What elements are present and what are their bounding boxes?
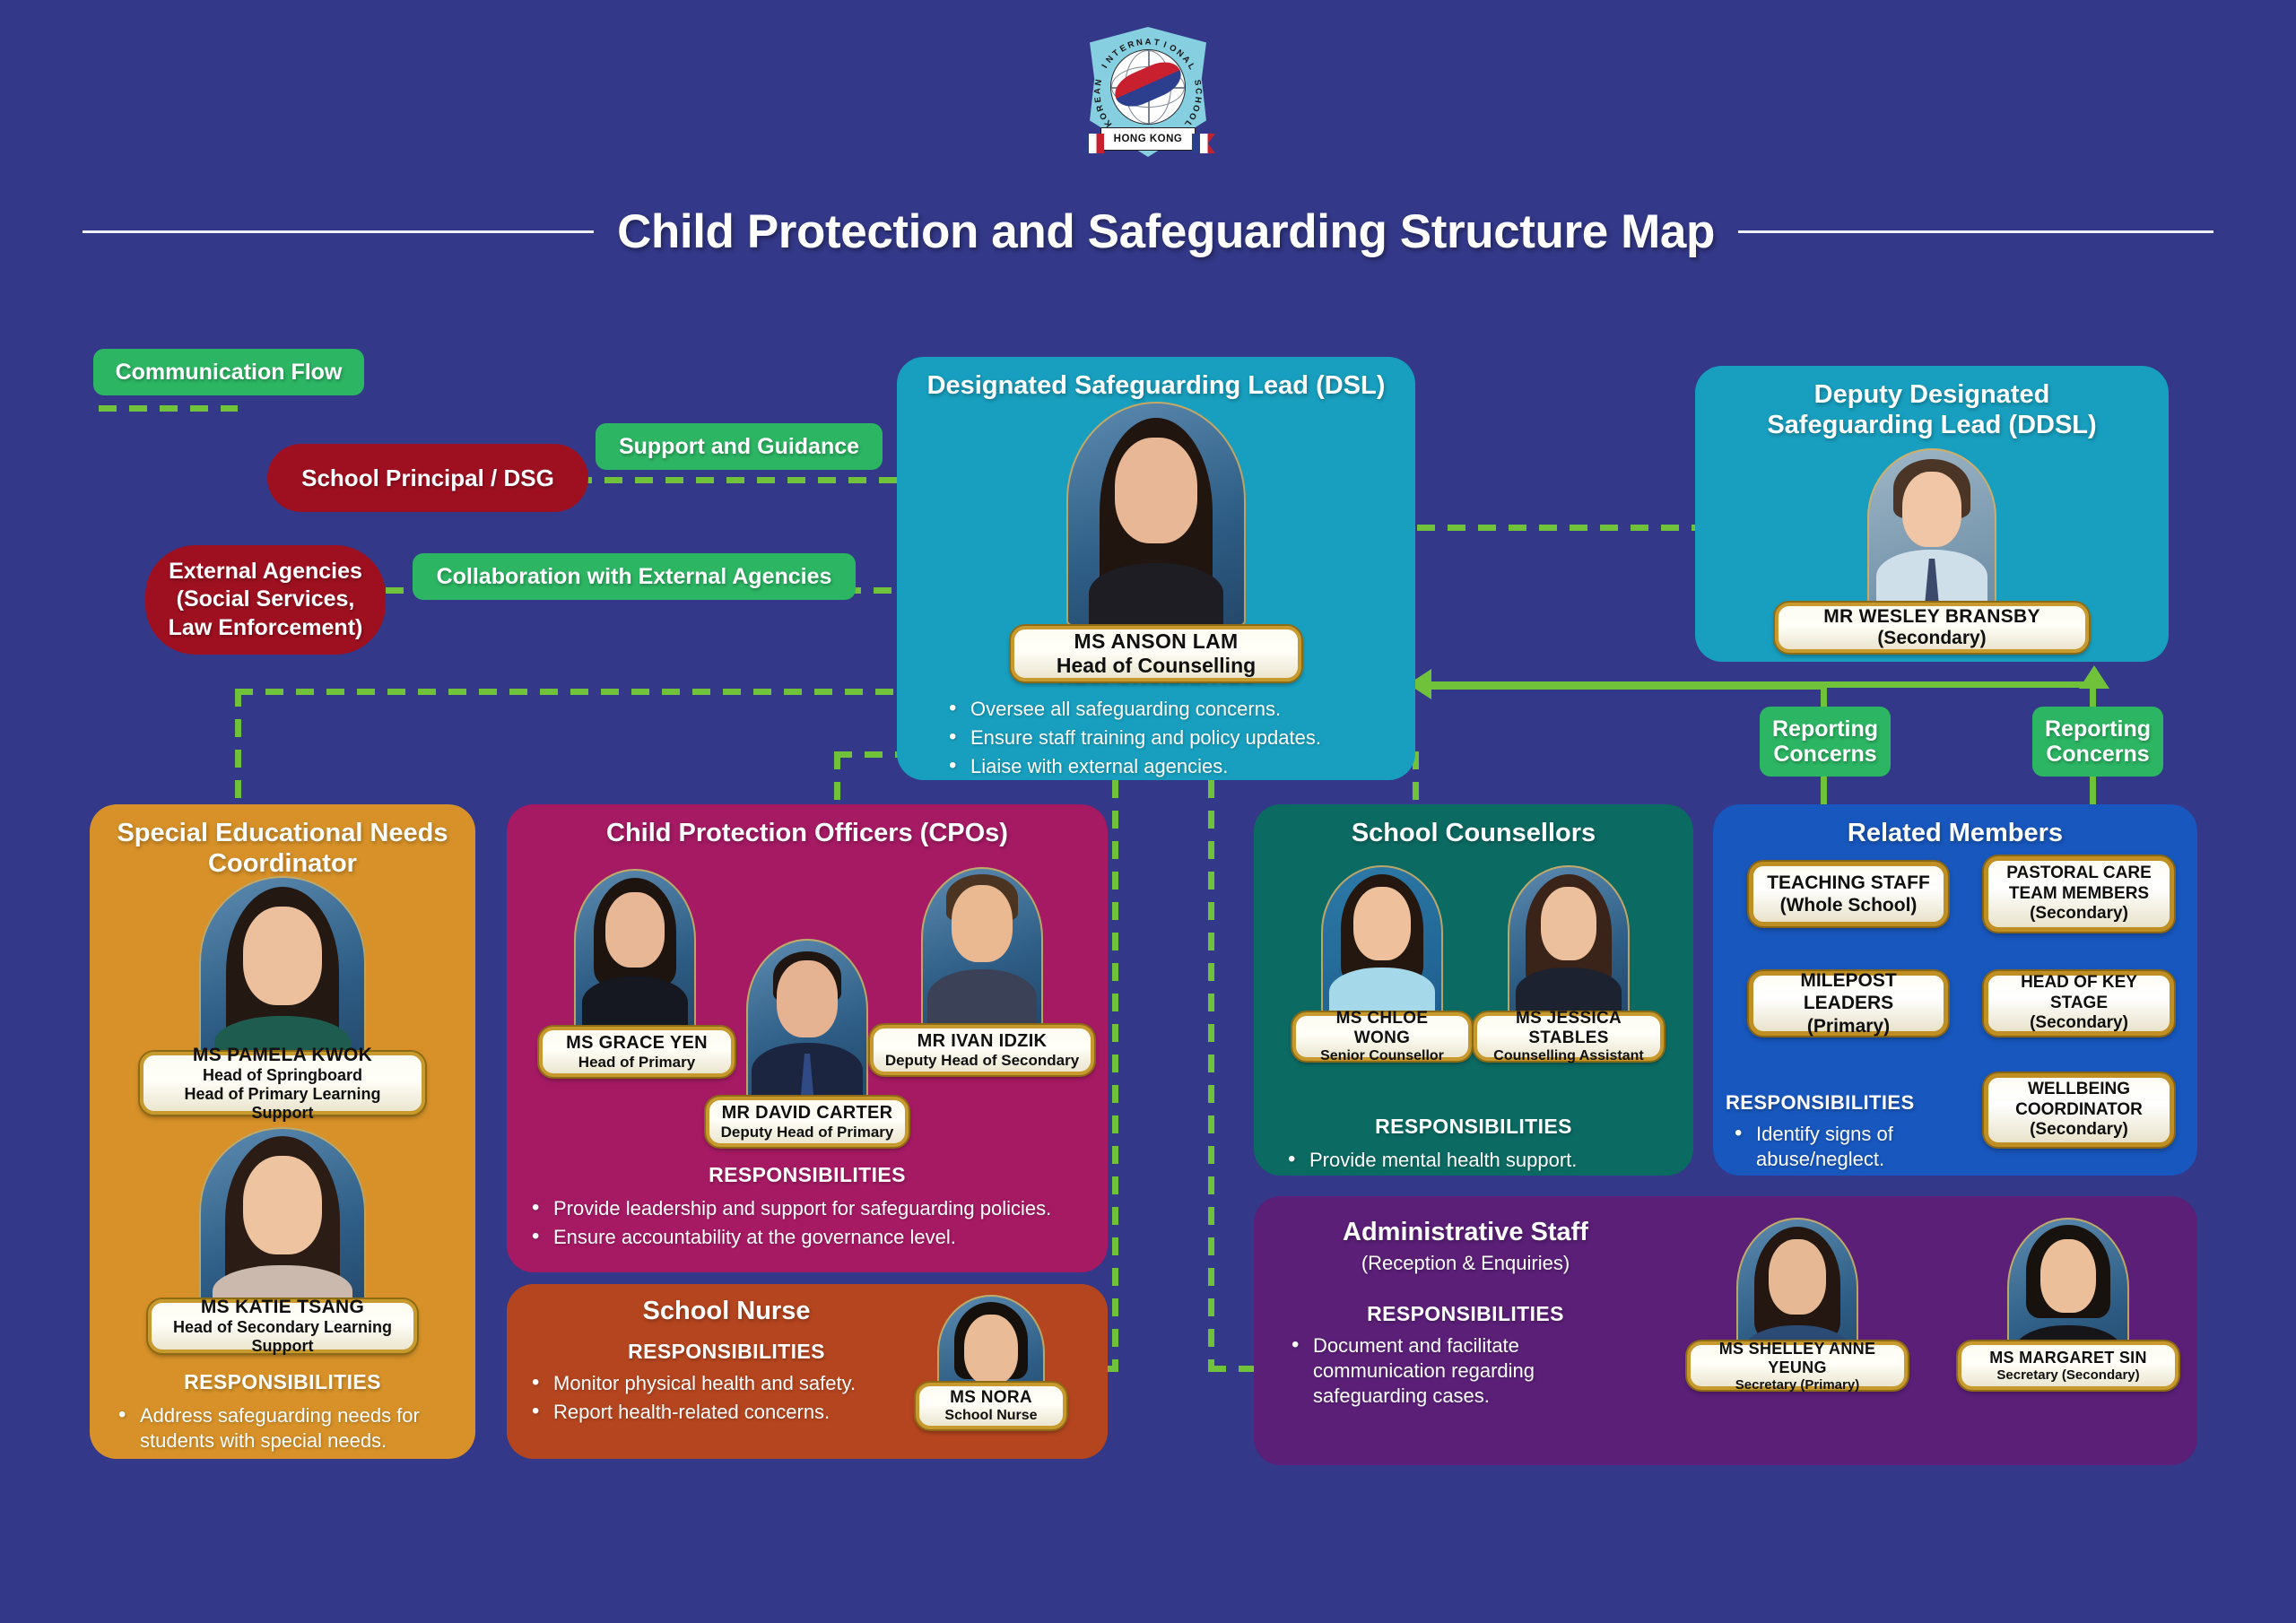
person-anson-lam (1066, 402, 1246, 626)
card-cpo-responsibilities: Provide leadership and support for safeg… (523, 1196, 1108, 1250)
label-collaboration-external-agencies: Collaboration with External Agencies (413, 553, 856, 600)
nameplate-ms-nora-name: MS NORA (950, 1388, 1032, 1408)
nameplate-margaret-sin-role: Secretary (Secondary) (1996, 1367, 2139, 1383)
card-related-resp-item: Identify signs of abuse/neglect. (1726, 1122, 1968, 1172)
nameplate-wesley-bransby-role: (Secondary) (1877, 628, 1986, 649)
node-school-principal[interactable]: School Principal / DSG (267, 444, 588, 512)
nameplate-shelley-anne-yeung-name: MS SHELLEY ANNE YEUNG (1701, 1340, 1893, 1377)
card-ddsl-title: Deputy DesignatedSafeguarding Lead (DDSL… (1695, 366, 2169, 440)
person-jessica-stables (1508, 865, 1630, 1018)
card-school-nurse[interactable]: School Nurse RESPONSIBILITIES Monitor ph… (507, 1284, 1108, 1459)
person-wesley-bransby (1867, 448, 1996, 605)
nameplate-ivan-idzik-role: Deputy Head of Secondary (885, 1052, 1079, 1070)
nameplate-grace-yen-role: Head of Primary (578, 1054, 695, 1072)
card-dsl-title: Designated Safeguarding Lead (DSL) (897, 357, 1415, 402)
title-row: Child Protection and Safeguarding Struct… (0, 190, 2296, 273)
nameplate-margaret-sin: MS MARGARET SIN Secretary (Secondary) (1958, 1341, 2179, 1390)
person-katie-tsang (199, 1127, 366, 1319)
nameplate-pamela-kwok: MS PAMELA KWOK Head of SpringboardHead o… (140, 1052, 425, 1115)
node-school-principal-label: School Principal / DSG (301, 464, 554, 493)
card-dsl-resp-item: Ensure staff training and policy updates… (940, 725, 1415, 751)
connector-dsl-to-nurse (1112, 780, 1118, 1372)
school-logo: KOREAN INTERNATIONAL SCHOOL HONG KONG (1081, 27, 1215, 175)
card-related-members[interactable]: Related Members TEACHING STAFF(Whole Sch… (1713, 804, 2197, 1176)
nameplate-margaret-sin-name: MS MARGARET SIN (1989, 1349, 2147, 1367)
nameplate-shelley-anne-yeung: MS SHELLEY ANNE YEUNG Secretary (Primary… (1687, 1341, 1908, 1390)
card-dsl-resp-item: Liaise with external agencies. (940, 754, 1415, 779)
card-senco-title: Special Educational NeedsCoordinator (90, 804, 475, 879)
card-cpo-title: Child Protection Officers (CPOs) (507, 804, 1108, 849)
person-pamela-kwok (199, 876, 366, 1072)
card-ddsl[interactable]: Deputy DesignatedSafeguarding Lead (DDSL… (1695, 366, 2169, 662)
person-david-carter (746, 939, 868, 1100)
structure-map-canvas: KOREAN INTERNATIONAL SCHOOL HONG KONG Ch… (0, 0, 2296, 1623)
title-rule-left (83, 230, 594, 233)
card-senco-resp-item: Address safeguarding needs for students … (109, 1403, 452, 1454)
card-counsellors-resp-item: Provide mental health support. (1279, 1148, 1693, 1173)
card-cpo-resp-heading: RESPONSIBILITIES (507, 1163, 1108, 1187)
nameplate-chloe-wong-name: MS CHLOE WONG (1307, 1009, 1457, 1048)
card-dsl[interactable]: Designated Safeguarding Lead (DSL) MS AN… (897, 357, 1415, 780)
legend-dash-sample (99, 405, 238, 412)
card-admin-responsibilities: Document and facilitate communication re… (1283, 1333, 1552, 1409)
connector-dsl-to-cpo-h (834, 751, 906, 758)
tag-teaching-staff-label: TEACHING STAFF(Whole School) (1767, 872, 1930, 916)
connector-dsl-to-ddsl (1417, 525, 1695, 531)
node-external-agencies-label: External Agencies(Social Services,Law En… (169, 558, 363, 642)
nameplate-anson-lam: MS ANSON LAM Head of Counselling (1011, 626, 1301, 681)
card-cpo[interactable]: Child Protection Officers (CPOs) MS GRAC… (507, 804, 1108, 1272)
tag-head-of-key-stage-label: HEAD OF KEY STAGE(Secondary) (1996, 973, 2162, 1034)
card-admin-resp-item: Document and facilitate communication re… (1283, 1333, 1552, 1409)
nameplate-shelley-anne-yeung-role: Secretary (Primary) (1735, 1377, 1859, 1393)
title-rule-right (1738, 230, 2213, 233)
label-support-and-guidance: Support and Guidance (596, 423, 883, 470)
ribbon-right-icon (1192, 134, 1215, 153)
label-reporting-concerns-right: ReportingConcerns (2032, 707, 2163, 777)
connector-principal-to-dsl (574, 477, 897, 483)
nameplate-anson-lam-role: Head of Counselling (1057, 654, 1256, 678)
person-chloe-wong (1321, 865, 1443, 1018)
nameplate-david-carter-role: Deputy Head of Primary (721, 1124, 894, 1141)
nameplate-ivan-idzik: MR IVAN IDZIK Deputy Head of Secondary (870, 1025, 1094, 1075)
nameplate-katie-tsang-role: Head of Secondary Learning Support (162, 1318, 403, 1356)
card-senco[interactable]: Special Educational NeedsCoordinator MS … (90, 804, 475, 1459)
tag-wellbeing-coordinator[interactable]: WELLBEINGCOORDINATOR(Secondary) (1984, 1073, 2174, 1147)
nameplate-ms-nora: MS NORA School Nurse (916, 1383, 1066, 1429)
card-cpo-resp-item: Ensure accountability at the governance … (523, 1225, 1108, 1250)
nameplate-grace-yen-name: MS GRACE YEN (566, 1033, 708, 1054)
person-ivan-idzik (921, 867, 1043, 1028)
nameplate-ivan-idzik-name: MR IVAN IDZIK (918, 1031, 1048, 1052)
card-related-title: Related Members (1713, 804, 2197, 849)
card-senco-resp-heading: RESPONSIBILITIES (90, 1370, 475, 1394)
connector-counsellors-elbow (1431, 683, 1827, 690)
card-counsellors-title: School Counsellors (1254, 804, 1693, 849)
card-counsellors-responsibilities: Provide mental health support. Identify … (1279, 1148, 1693, 1176)
card-dsl-resp-item: Oversee all safeguarding concerns. (940, 697, 1415, 722)
arrow-to-ddsl-icon (2079, 665, 2109, 689)
nameplate-katie-tsang-name: MS KATIE TSANG (201, 1297, 364, 1318)
nameplate-chloe-wong-role: Senior Counsellor (1320, 1048, 1444, 1064)
connector-dsl-to-admin (1208, 780, 1214, 1372)
tag-wellbeing-coordinator-label: WELLBEINGCOORDINATOR(Secondary) (2015, 1080, 2143, 1141)
card-dsl-responsibilities: Oversee all safeguarding concerns. Ensur… (940, 697, 1415, 779)
tag-milepost-leaders[interactable]: MILEPOST LEADERS(Primary) (1749, 971, 1948, 1036)
nameplate-david-carter: MR DAVID CARTER Deputy Head of Primary (706, 1097, 909, 1147)
nameplate-chloe-wong: MS CHLOE WONG Senior Counsellor (1292, 1012, 1472, 1061)
nameplate-wesley-bransby: MR WESLEY BRANSBY (Secondary) (1775, 603, 2089, 653)
nameplate-jessica-stables: MS JESSICA STABLES Counselling Assistant (1474, 1012, 1664, 1061)
person-grace-yen (574, 869, 696, 1030)
nameplate-anson-lam-name: MS ANSON LAM (1074, 629, 1239, 654)
card-cpo-resp-item: Provide leadership and support for safeg… (523, 1196, 1108, 1221)
nameplate-jessica-stables-name: MS JESSICA STABLES (1488, 1009, 1649, 1048)
nameplate-grace-yen: MS GRACE YEN Head of Primary (539, 1027, 735, 1077)
nameplate-katie-tsang: MS KATIE TSANG Head of Secondary Learnin… (148, 1299, 417, 1353)
tag-pastoral-care-team[interactable]: PASTORAL CARETEAM MEMBERS(Secondary) (1984, 856, 2174, 932)
card-school-counsellors[interactable]: School Counsellors MS CHLOE WONG Senior … (1254, 804, 1693, 1176)
tag-head-of-key-stage[interactable]: HEAD OF KEY STAGE(Secondary) (1984, 971, 2174, 1036)
legend-communication-flow: Communication Flow (93, 349, 364, 395)
connector-dsl-to-cpo (834, 751, 840, 807)
logo-banner-text: HONG KONG (1100, 127, 1196, 151)
tag-pastoral-care-team-label: PASTORAL CARETEAM MEMBERS(Secondary) (2006, 864, 2152, 924)
nameplate-jessica-stables-role: Counselling Assistant (1493, 1048, 1643, 1064)
connector-senco-drop (235, 689, 241, 805)
page-title: Child Protection and Safeguarding Struct… (617, 204, 1715, 259)
ribbon-left-icon (1081, 134, 1104, 153)
card-senco-responsibilities: Address safeguarding needs for students … (109, 1403, 452, 1454)
nameplate-pamela-kwok-name: MS PAMELA KWOK (193, 1045, 372, 1066)
tag-milepost-leaders-label: MILEPOST LEADERS(Primary) (1761, 969, 1936, 1037)
card-counsellors-resp-heading: RESPONSIBILITIES (1254, 1115, 1693, 1139)
card-related-responsibilities: Identify signs of abuse/neglect. Report … (1726, 1122, 1968, 1176)
connector-bus-to-senco (235, 689, 903, 695)
nameplate-wesley-bransby-name: MR WESLEY BRANSBY (1823, 606, 2040, 628)
card-administrative-staff[interactable]: Administrative Staff (Reception & Enquir… (1254, 1196, 2197, 1465)
nameplate-pamela-kwok-role: Head of SpringboardHead of Primary Learn… (154, 1066, 411, 1123)
node-external-agencies[interactable]: External Agencies(Social Services,Law En… (145, 545, 386, 655)
label-reporting-concerns-left-text: ReportingConcerns (1772, 716, 1878, 767)
tag-teaching-staff[interactable]: TEACHING STAFF(Whole School) (1749, 862, 1948, 926)
nameplate-david-carter-name: MR DAVID CARTER (722, 1103, 893, 1124)
label-reporting-concerns-left: ReportingConcerns (1760, 707, 1891, 777)
label-reporting-concerns-right-text: ReportingConcerns (2045, 716, 2151, 767)
nameplate-ms-nora-role: School Nurse (944, 1408, 1037, 1424)
